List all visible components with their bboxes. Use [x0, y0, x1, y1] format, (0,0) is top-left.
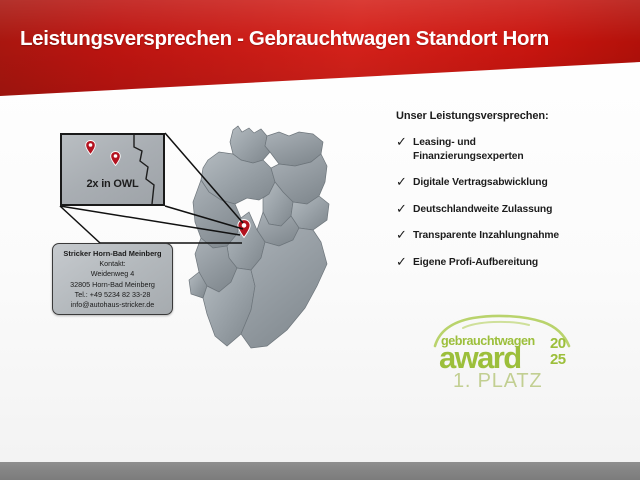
- list-item: ✓ Eigene Profi-Aufbereitung: [396, 256, 626, 270]
- contact-phone: Tel.: +49 5234 82 33-28: [56, 290, 169, 300]
- contact-line: Weidenweg 4: [56, 269, 169, 279]
- list-item-label: Deutschlandweite Zulassung: [413, 203, 552, 217]
- contact-line: Kontakt:: [56, 259, 169, 269]
- contact-line: 32805 Horn-Bad Meinberg: [56, 280, 169, 290]
- list-item-label: Transparente Inzahlungnahme: [413, 229, 559, 243]
- promise-list: Unser Leistungsversprechen: ✓ Leasing- u…: [396, 110, 626, 282]
- award-year: 20 25: [550, 336, 566, 367]
- list-item: ✓ Leasing- undFinanzierungsexperten: [396, 136, 626, 163]
- list-item: ✓ Digitale Vertragsabwicklung: [396, 176, 626, 190]
- contact-info-box: Stricker Horn-Bad Meinberg Kontakt: Weid…: [52, 243, 173, 315]
- header-banner: Leistungsversprechen - Gebrauchtwagen St…: [0, 0, 640, 100]
- page-title: Leistungsversprechen - Gebrauchtwagen St…: [20, 27, 549, 51]
- list-item-label: Digitale Vertragsabwicklung: [413, 176, 548, 190]
- contact-line: Stricker Horn-Bad Meinberg: [56, 249, 169, 259]
- contact-email[interactable]: info@autohaus-stricker.de: [56, 300, 169, 310]
- map-pin-icon: [110, 151, 121, 166]
- list-item-label: Eigene Profi-Aufbereitung: [413, 256, 538, 270]
- inset-region-map: [60, 133, 165, 206]
- award-line2: award: [439, 342, 521, 373]
- brand-logo-strip: Horn Nutzfahrzeuge Service SKODA Service: [0, 405, 640, 463]
- check-mark-icon: ✓: [396, 136, 413, 149]
- slide-root: Leistungsversprechen - Gebrauchtwagen St…: [0, 0, 640, 480]
- award-badge: gebrauchtwagen award 20 25 1. PLATZ: [425, 312, 595, 394]
- promise-title: Unser Leistungsversprechen:: [396, 110, 626, 122]
- award-year-top: 20: [550, 336, 566, 352]
- check-mark-icon: ✓: [396, 229, 413, 242]
- check-mark-icon: ✓: [396, 256, 413, 269]
- list-item: ✓ Transparente Inzahlungnahme: [396, 229, 626, 243]
- map-pin-icon: [85, 140, 96, 155]
- award-rank: 1. PLATZ: [453, 370, 542, 393]
- footer-bar: [0, 462, 640, 480]
- list-item: ✓ Deutschlandweite Zulassung: [396, 203, 626, 217]
- inset-map-label: 2x in OWL: [60, 178, 165, 190]
- check-mark-icon: ✓: [396, 176, 413, 189]
- check-mark-icon: ✓: [396, 203, 413, 216]
- list-item-label: Leasing- undFinanzierungsexperten: [413, 136, 524, 163]
- award-year-bottom: 25: [550, 352, 566, 368]
